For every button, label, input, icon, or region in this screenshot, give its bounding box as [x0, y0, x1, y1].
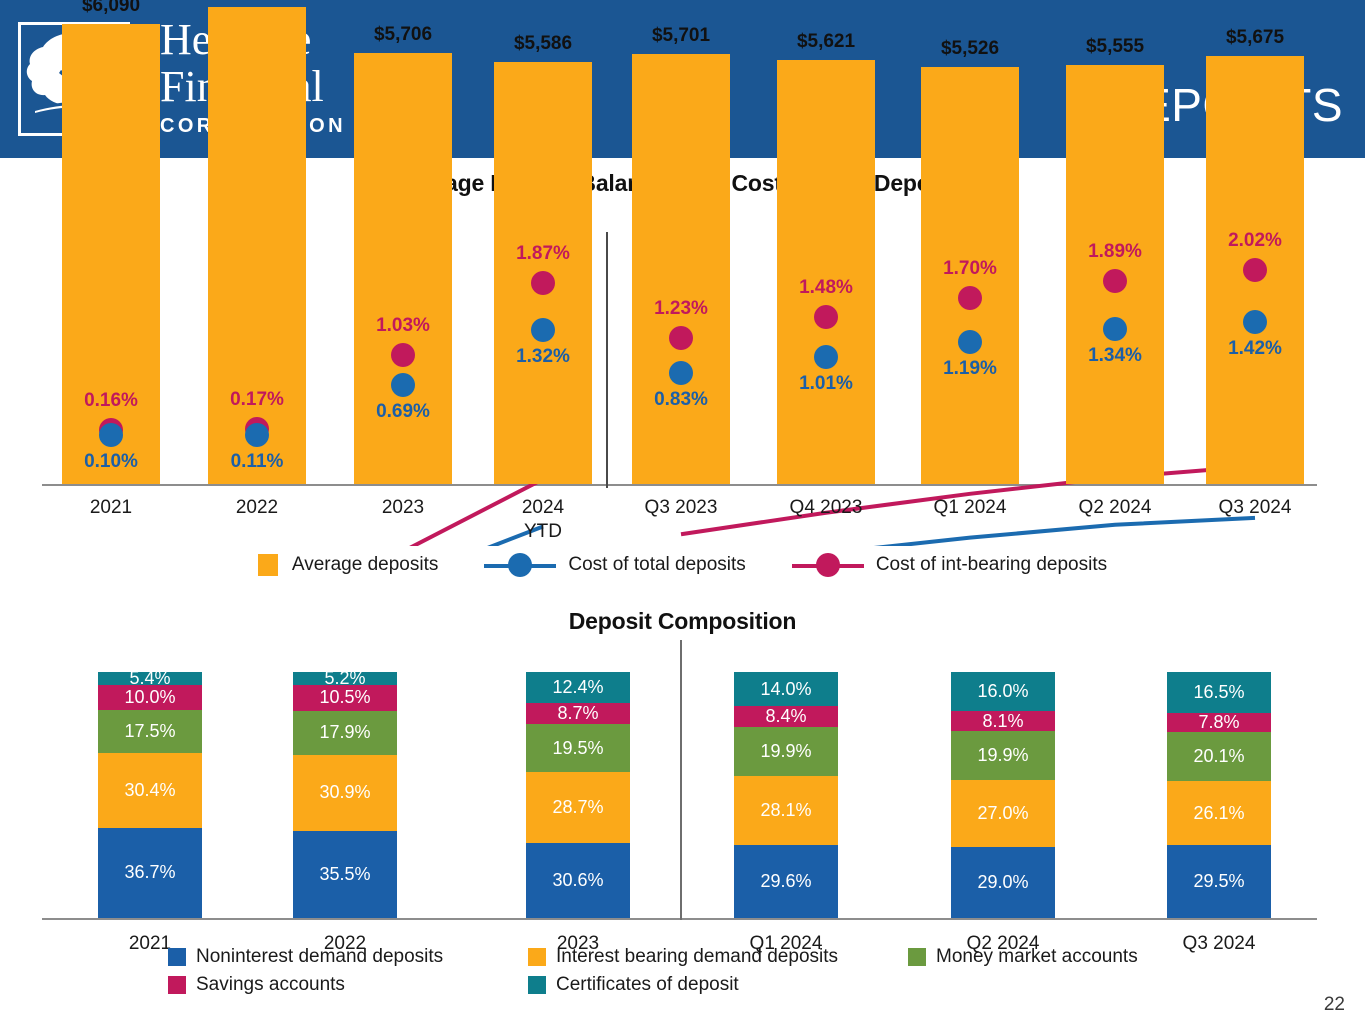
stack-segment-interest-bearing-demand-deposits: 28.7% [526, 772, 630, 843]
x-axis-tick-label: Q3 2024 [1175, 496, 1335, 520]
chart-title-deposit-composition: Deposit Composition [0, 608, 1365, 635]
legend-item-savings-accounts[interactable]: Savings accounts [168, 974, 528, 996]
stack-segment-interest-bearing-demand-deposits: 26.1% [1167, 781, 1271, 845]
legend-label: Interest bearing demand deposits [556, 946, 838, 968]
stack-segment-certificates-of-deposit: 12.4% [526, 672, 630, 703]
legend-line-dot-crimson-icon [792, 553, 864, 577]
stack-segment-money-market-accounts: 17.5% [98, 710, 202, 753]
stack-segment-interest-bearing-demand-deposits: 28.1% [734, 776, 838, 845]
stack-segment-noninterest-demand-deposits: 35.5% [293, 831, 397, 918]
stack-segment-money-market-accounts: 19.9% [951, 731, 1055, 780]
data-label-cost-of-total-deposits: 0.10% [41, 451, 181, 473]
legend-item-money-market-accounts[interactable]: Money market accounts [908, 946, 1138, 968]
data-label-cost-of-int-bearing-deposits: 1.48% [756, 277, 896, 299]
legend-item-certificates-of-deposit[interactable]: Certificates of deposit [528, 974, 908, 996]
legend-item-cost-of-total-deposits[interactable]: Cost of total deposits [484, 553, 745, 577]
x-axis-tick-label: 2023 [323, 496, 483, 520]
stack-segment-interest-bearing-demand-deposits: 30.4% [98, 753, 202, 828]
x-axis-tick-label: 2024YTD [463, 496, 623, 544]
legend-item-average-deposits[interactable]: Average deposits [258, 554, 438, 576]
data-label-cost-of-total-deposits: 0.69% [333, 401, 473, 423]
stack-segment-interest-bearing-demand-deposits: 30.9% [293, 755, 397, 831]
bar-average-deposits [62, 24, 160, 484]
data-label-cost-of-total-deposits: 1.32% [473, 346, 613, 368]
data-point-cost-of-total-deposits [958, 330, 982, 354]
data-label-cost-of-int-bearing-deposits: 1.70% [900, 258, 1040, 280]
bar-average-deposits [208, 7, 306, 484]
x-axis-tick-label: 2022 [177, 496, 337, 520]
data-point-cost-of-int-bearing-deposits [814, 305, 838, 329]
bar-value-label: $5,706 [333, 24, 473, 46]
stack-segment-noninterest-demand-deposits: 29.6% [734, 845, 838, 918]
data-label-cost-of-int-bearing-deposits: 1.23% [611, 298, 751, 320]
legend-deposit-composition: Noninterest demand deposits Interest bea… [168, 946, 1228, 1002]
stack-segment-noninterest-demand-deposits: 30.6% [526, 843, 630, 918]
legend-label: Money market accounts [936, 946, 1138, 968]
chart-deposit-composition: 36.7%30.4%17.5%10.0%5.4%202135.5%30.9%17… [0, 640, 1365, 925]
data-label-cost-of-total-deposits: 0.11% [187, 451, 327, 473]
stack-segment-noninterest-demand-deposits: 36.7% [98, 828, 202, 918]
legend-item-cost-of-int-bearing-deposits[interactable]: Cost of int-bearing deposits [792, 553, 1107, 577]
data-label-cost-of-total-deposits: 1.01% [756, 373, 896, 395]
legend-label: Cost of int-bearing deposits [876, 554, 1107, 576]
data-point-cost-of-int-bearing-deposits [531, 271, 555, 295]
stack-segment-savings-accounts: 8.4% [734, 706, 838, 727]
x-axis-line [42, 484, 1317, 486]
data-point-cost-of-total-deposits [1103, 317, 1127, 341]
data-point-cost-of-total-deposits [391, 373, 415, 397]
bar-value-label: $5,586 [473, 33, 613, 55]
data-label-cost-of-total-deposits: 1.19% [900, 358, 1040, 380]
stack-segment-certificates-of-deposit: 5.2% [293, 672, 397, 685]
stack-segment-money-market-accounts: 20.1% [1167, 732, 1271, 781]
legend-swatch-orange-icon [258, 554, 278, 576]
stack-segment-money-market-accounts: 19.9% [734, 727, 838, 776]
bar-average-deposits [632, 54, 730, 484]
stack-segment-interest-bearing-demand-deposits: 27.0% [951, 780, 1055, 846]
legend-label: Savings accounts [196, 974, 345, 996]
line-cost-of-total-deposits [681, 518, 1255, 546]
data-point-cost-of-total-deposits [669, 361, 693, 385]
stack-segment-certificates-of-deposit: 5.4% [98, 672, 202, 685]
bar-value-label: $5,675 [1185, 27, 1325, 49]
data-label-cost-of-int-bearing-deposits: 1.03% [333, 315, 473, 337]
data-label-cost-of-total-deposits: 1.34% [1045, 345, 1185, 367]
legend-line-dot-blue-icon [484, 553, 556, 577]
legend-label: Noninterest demand deposits [196, 946, 443, 968]
bar-value-label: $5,621 [756, 31, 896, 53]
legend-swatch-green-icon [908, 948, 926, 966]
x-axis-tick-label: Q1 2024 [890, 496, 1050, 520]
bar-value-label: $5,701 [611, 25, 751, 47]
bar-average-deposits [777, 60, 875, 484]
stack-segment-savings-accounts: 8.1% [951, 711, 1055, 731]
data-label-cost-of-total-deposits: 0.83% [611, 389, 751, 411]
stack-segment-certificates-of-deposit: 14.0% [734, 672, 838, 706]
legend-swatch-blue-icon [168, 948, 186, 966]
legend-label: Cost of total deposits [568, 554, 745, 576]
data-label-cost-of-int-bearing-deposits: 1.87% [473, 243, 613, 265]
stack-segment-certificates-of-deposit: 16.5% [1167, 672, 1271, 713]
x-axis-tick-label: 2021 [31, 496, 191, 520]
stack-segment-savings-accounts: 7.8% [1167, 713, 1271, 732]
bar-value-label: $5,526 [900, 38, 1040, 60]
data-label-cost-of-int-bearing-deposits: 1.89% [1045, 241, 1185, 263]
stack-segment-noninterest-demand-deposits: 29.5% [1167, 845, 1271, 918]
x-axis-tick-label: Q4 2023 [746, 496, 906, 520]
data-point-cost-of-int-bearing-deposits [958, 286, 982, 310]
legend-label: Certificates of deposit [556, 974, 739, 996]
legend-average-deposit-balances: Average deposits Cost of total deposits … [0, 548, 1365, 582]
chart-average-deposit-balances: $6,0902021$6,3222022$5,7062023$5,5862024… [0, 196, 1365, 546]
data-label-cost-of-int-bearing-deposits: 0.17% [187, 389, 327, 411]
data-label-cost-of-int-bearing-deposits: 2.02% [1185, 230, 1325, 252]
data-point-cost-of-total-deposits [814, 345, 838, 369]
stack-segment-money-market-accounts: 19.5% [526, 724, 630, 772]
x-axis-tick-label: Q2 2024 [1035, 496, 1195, 520]
stack-segment-noninterest-demand-deposits: 29.0% [951, 847, 1055, 918]
legend-swatch-crimson-icon [168, 976, 186, 994]
data-label-cost-of-int-bearing-deposits: 0.16% [41, 390, 181, 412]
legend-label: Average deposits [292, 554, 438, 576]
legend-item-noninterest-demand-deposits[interactable]: Noninterest demand deposits [168, 946, 528, 968]
panel-divider [680, 640, 682, 920]
legend-swatch-orange-icon [528, 948, 546, 966]
stack-segment-certificates-of-deposit: 16.0% [951, 672, 1055, 711]
stack-segment-savings-accounts: 8.7% [526, 703, 630, 724]
x-axis-tick-label: Q3 2023 [601, 496, 761, 520]
data-point-cost-of-total-deposits [1243, 310, 1267, 334]
bar-value-label: $5,555 [1045, 36, 1185, 58]
page-number: 22 [1324, 994, 1345, 1016]
data-point-cost-of-total-deposits [245, 423, 269, 447]
legend-item-interest-bearing-demand-deposits[interactable]: Interest bearing demand deposits [528, 946, 908, 968]
stack-segment-money-market-accounts: 17.9% [293, 711, 397, 755]
bar-value-label: $6,090 [41, 0, 181, 17]
legend-swatch-teal-icon [528, 976, 546, 994]
data-label-cost-of-total-deposits: 1.42% [1185, 338, 1325, 360]
